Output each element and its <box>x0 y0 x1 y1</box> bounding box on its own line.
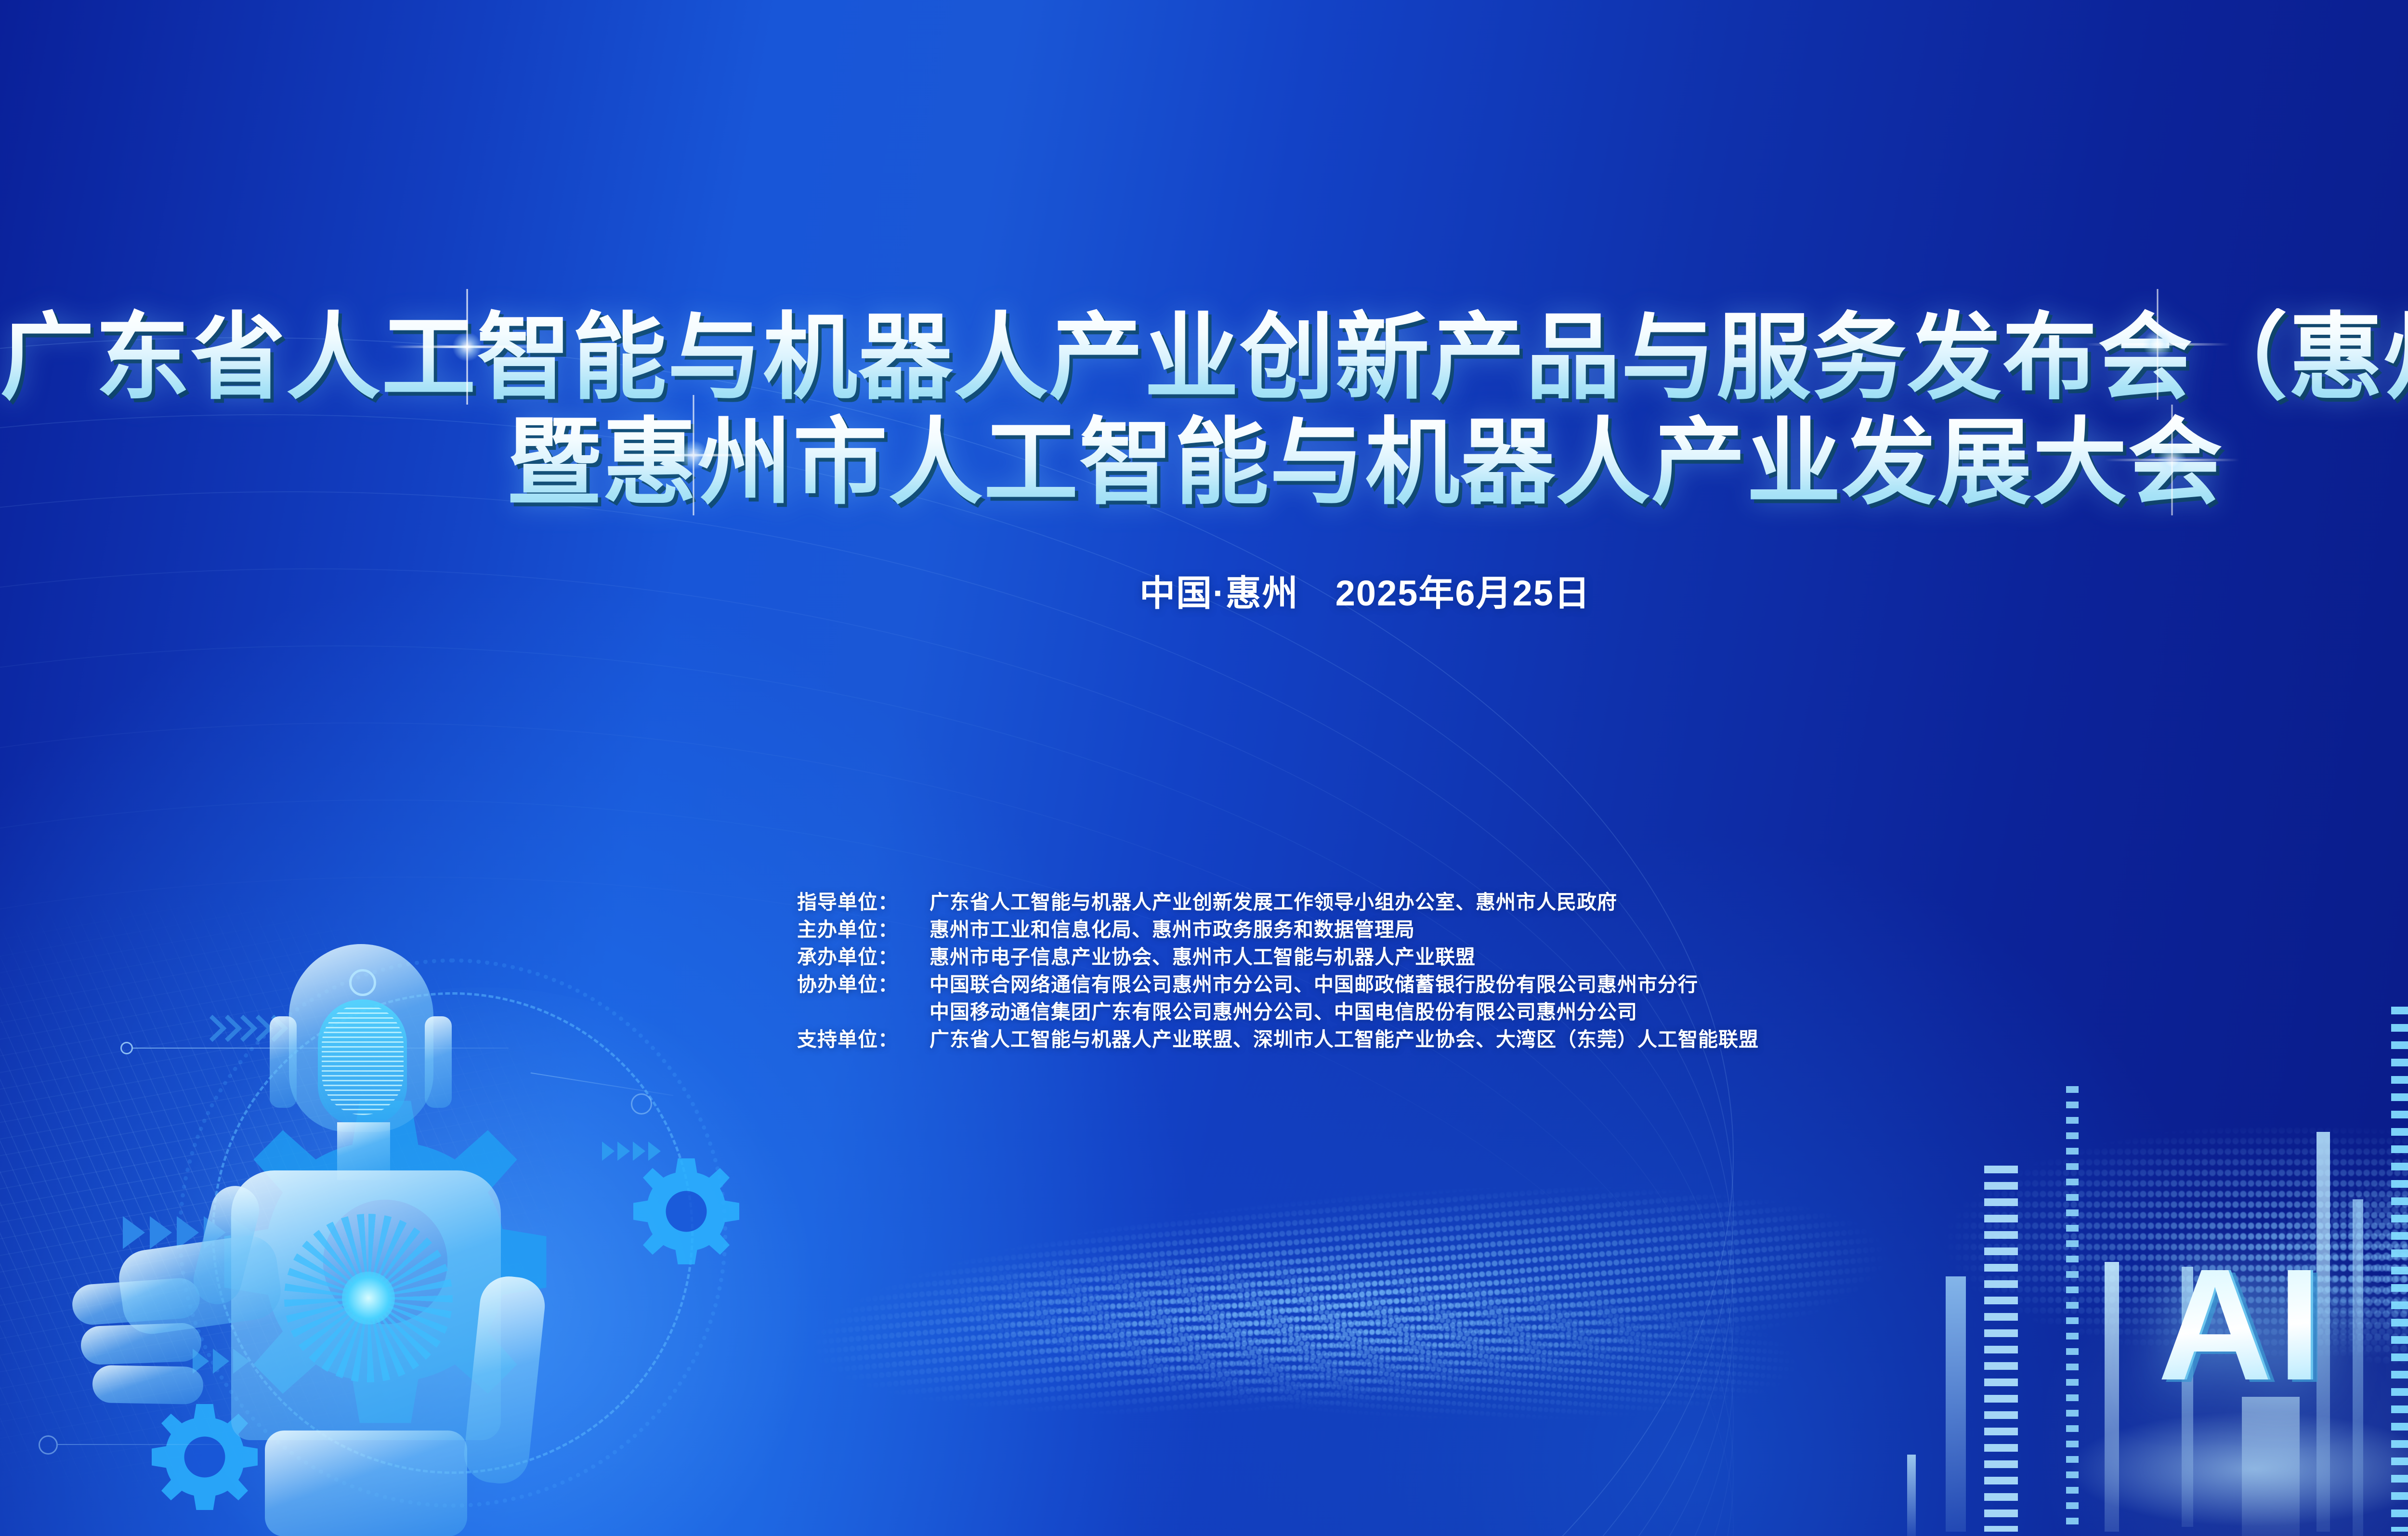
robot-arm-left <box>115 1232 284 1338</box>
node-dot-icon <box>120 1042 133 1054</box>
organizer-label: 主办单位： <box>797 916 929 944</box>
swoosh-arc <box>0 645 1734 1536</box>
organizer-label: 指导单位： <box>797 889 929 916</box>
robot-neck <box>337 1122 390 1180</box>
organizer-value: 中国移动通信集团广东有限公司惠州分公司、中国电信股份有限公司惠州分公司 <box>929 998 1637 1026</box>
chevron-right-icon <box>193 1349 249 1374</box>
title-line-2: 暨惠州市人工智能与机器人产业发展大会 <box>0 413 2408 512</box>
robot-thumb <box>188 1181 264 1310</box>
connector-line <box>531 1073 674 1096</box>
waveform-graphic <box>689 1109 2008 1491</box>
robot-arm-right <box>461 1273 548 1486</box>
organizer-value: 广东省人工智能与机器人产业联盟、深圳市人工智能产业协会、大湾区（东莞）人工智能联… <box>929 1026 1759 1053</box>
organizer-value: 惠州市工业和信息化局、惠州市政务服务和数据管理局 <box>929 916 1415 944</box>
chevron-right-icon <box>207 1011 294 1045</box>
robot-figure <box>58 944 660 1536</box>
organizer-label: 支持单位： <box>797 1026 929 1053</box>
robot-ear-left <box>270 1016 297 1108</box>
organizer-list: 指导单位： 广东省人工智能与机器人产业创新发展工作领导小组办公室、惠州市人民政府… <box>797 889 1759 1053</box>
organizer-row: 支持单位： 广东省人工智能与机器人产业联盟、深圳市人工智能产业协会、大湾区（东莞… <box>797 1026 1759 1053</box>
chevron-right-icon <box>602 1142 661 1161</box>
banner-title: 广东省人工智能与机器人产业创新产品与服务发布会（惠州专场） 暨惠州市人工智能与机… <box>0 308 2408 512</box>
robot-finger <box>80 1323 202 1365</box>
ai-logo: AI <box>2158 1233 2326 1416</box>
chevron-right-icon <box>123 1216 253 1249</box>
organizer-row: 协办单位： 中国联合网络通信有限公司惠州市分公司、中国邮政储蓄银行股份有限公司惠… <box>797 971 1759 998</box>
robot-face-scanlines <box>322 1004 404 1115</box>
robot-chest-core <box>342 1272 395 1325</box>
robot-torso <box>231 1170 501 1440</box>
glow-bloom <box>120 987 843 1536</box>
node-dot-icon <box>631 1093 652 1115</box>
robot-crown-badge <box>349 969 376 996</box>
hud-ring-graphic <box>212 992 694 1474</box>
conference-banner: AI 广东省人工智能与机器人产业创新产品与服务发布会（惠州专场） 暨惠州市人工智… <box>0 0 2408 1536</box>
organizer-label: 协办单位： <box>797 971 929 998</box>
connector-line <box>58 1444 222 1445</box>
organizer-value: 惠州市电子信息产业协会、惠州市人工智能与机器人产业联盟 <box>929 944 1476 971</box>
background-decoration <box>0 0 2408 1536</box>
organizer-row-continuation: 协办单位： 中国移动通信集团广东有限公司惠州分公司、中国电信股份有限公司惠州分公… <box>797 998 1759 1026</box>
robot-head <box>289 944 433 1132</box>
organizer-label: 承办单位： <box>797 944 929 971</box>
swoosh-arc <box>0 722 1734 1536</box>
organizer-row: 承办单位： 惠州市电子信息产业协会、惠州市人工智能与机器人产业联盟 <box>797 944 1759 971</box>
banner-subtitle: 中国·惠州 2025年6月25日 <box>0 565 2408 616</box>
title-line-1: 广东省人工智能与机器人产业创新产品与服务发布会（惠州专场） <box>0 308 2408 407</box>
gear-icon <box>202 1079 568 1445</box>
organizer-value: 中国联合网络通信有限公司惠州市分公司、中国邮政储蓄银行股份有限公司惠州市分行 <box>929 971 1698 998</box>
waveform-graphic <box>837 1193 2005 1485</box>
robot-ear-right <box>425 1016 452 1108</box>
robot-finger <box>92 1365 203 1405</box>
node-dot-icon <box>39 1435 58 1455</box>
robot-finger <box>71 1277 201 1326</box>
hud-ring-graphic <box>178 958 727 1508</box>
robot-faceplate <box>318 999 407 1125</box>
gear-icon <box>144 1397 265 1517</box>
robot-chest-hud <box>284 1214 453 1382</box>
organizer-value: 广东省人工智能与机器人产业创新发展工作领导小组办公室、惠州市人民政府 <box>929 889 1617 916</box>
gear-icon <box>626 1151 746 1272</box>
organizer-row: 主办单位： 惠州市工业和信息化局、惠州市政务服务和数据管理局 <box>797 916 1759 944</box>
organizer-row: 指导单位： 广东省人工智能与机器人产业创新发展工作领导小组办公室、惠州市人民政府 <box>797 889 1759 916</box>
ai-logo-glow <box>2066 1411 2408 1527</box>
connector-line <box>133 1048 509 1049</box>
robot-hips <box>265 1431 467 1536</box>
